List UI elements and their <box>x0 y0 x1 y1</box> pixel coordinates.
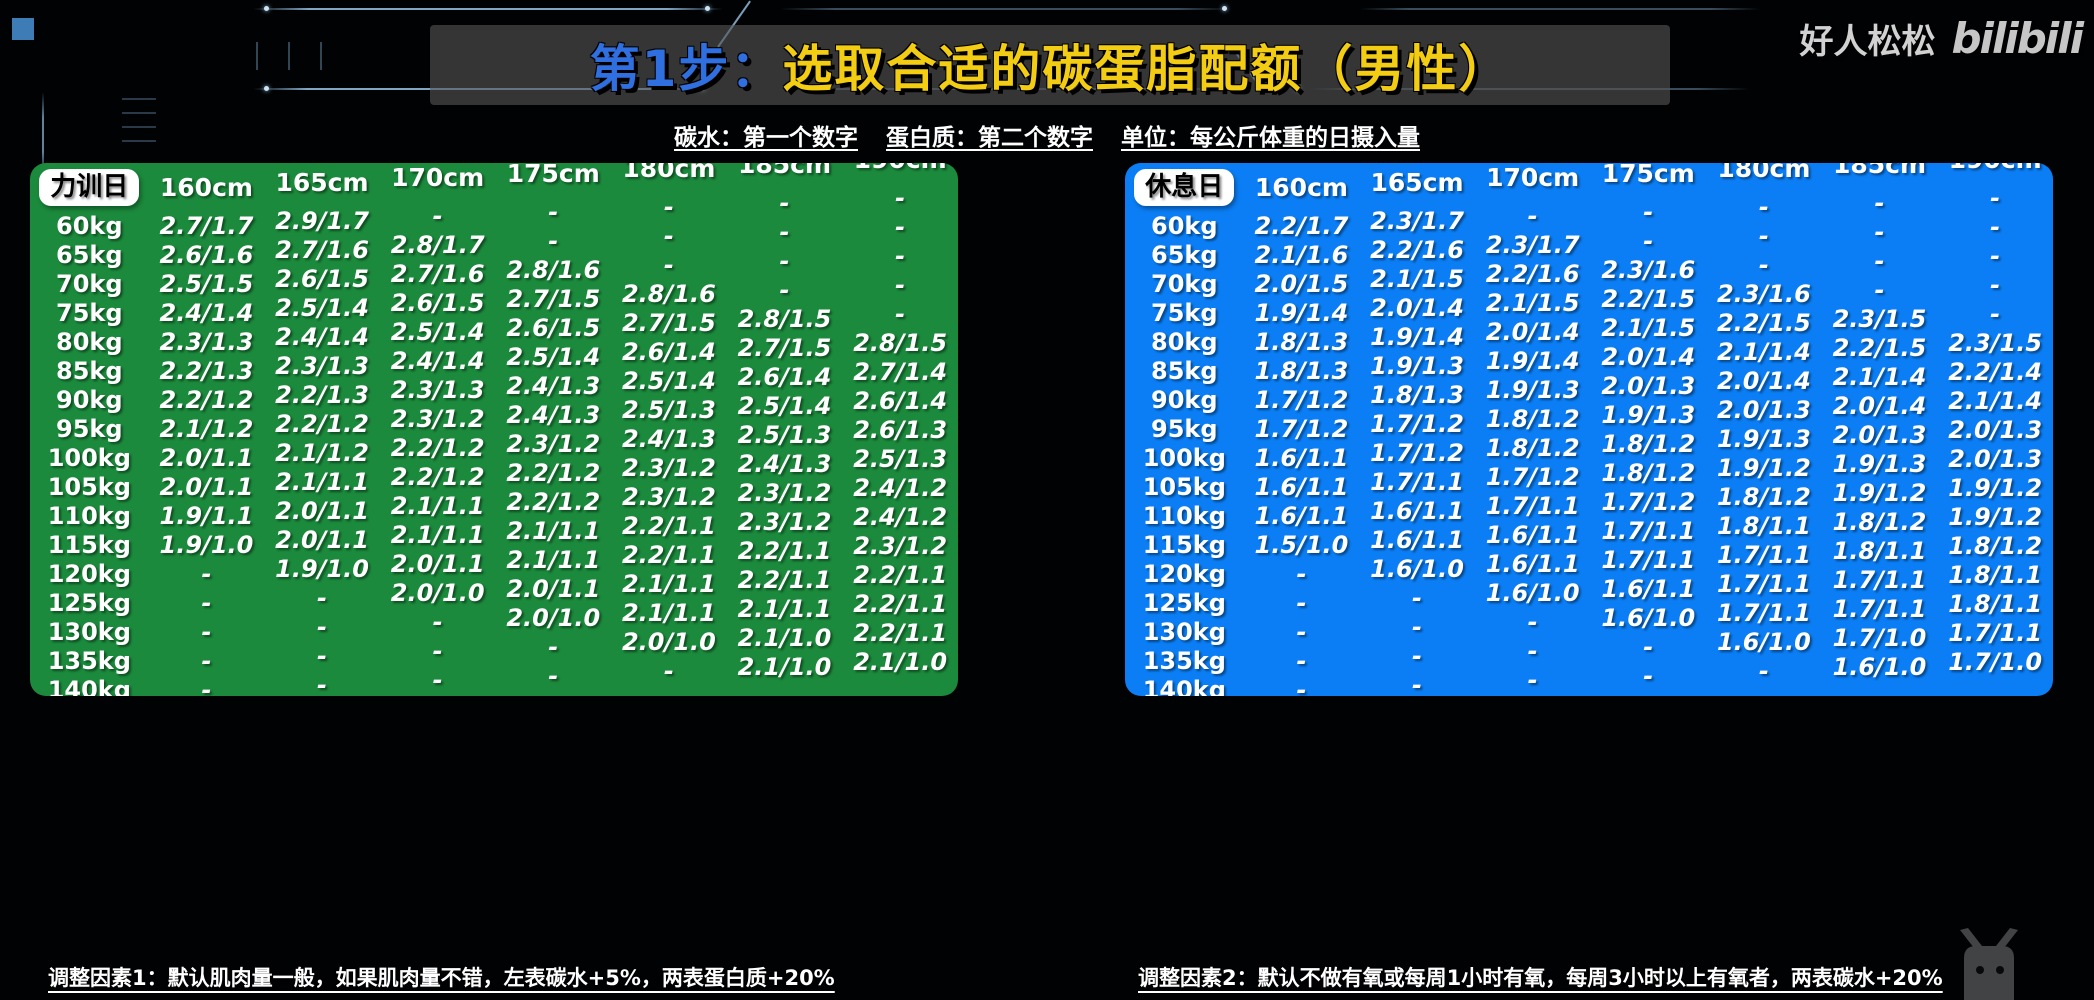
row-header-weight: 90kg <box>1125 385 1244 414</box>
cell-macro-value: - <box>149 617 265 646</box>
cell-macro-value: 2.4/1.3 <box>611 424 727 453</box>
cell-macro-value: 2.1/1.4 <box>1822 362 1938 391</box>
cell-macro-value: 1.8/1.2 <box>1590 429 1706 458</box>
cell-macro-value: - <box>1937 299 2053 328</box>
cell-macro-value: - <box>149 588 265 617</box>
cell-macro-value: 2.7/1.5 <box>727 333 843 362</box>
cell-macro-value: 2.0/1.4 <box>1590 342 1706 371</box>
cell-macro-value: 2.4/1.2 <box>842 473 958 502</box>
cell-macro-value: - <box>1244 559 1360 588</box>
cell-macro-value: 2.4/1.4 <box>380 346 496 375</box>
cell-macro-value: 1.9/1.4 <box>1359 322 1475 351</box>
cell-macro-value: 2.0/1.0 <box>380 578 496 607</box>
cell-macro-value: 2.1/1.1 <box>380 520 496 549</box>
cell-macro-value: - <box>1590 226 1706 255</box>
cell-macro-value: - <box>611 192 727 221</box>
cell-macro-value: 1.9/1.2 <box>1937 502 2053 531</box>
cell-macro-value: 1.9/1.4 <box>1244 298 1360 327</box>
cell-macro-value: 2.6/1.6 <box>149 240 265 269</box>
cell-macro-value: - <box>380 665 496 694</box>
cell-macro-value: - <box>727 217 843 246</box>
cell-macro-value: 2.5/1.4 <box>495 342 611 371</box>
cell-macro-value: - <box>1590 661 1706 690</box>
col-header-190: 190cm <box>1937 163 2053 183</box>
channel-name: 好人松松 <box>1799 14 1935 63</box>
cell-macro-value: 2.2/1.6 <box>1475 259 1591 288</box>
row-header-weight: 140kg <box>1125 675 1244 696</box>
cell-macro-value: 2.1/1.2 <box>149 414 265 443</box>
cell-macro-value: 1.8/1.1 <box>1937 560 2053 589</box>
subtitle-legend: 碳水：第一个数字蛋白质：第二个数字单位：每公斤体重的日摄入量 <box>0 118 2094 152</box>
cell-macro-value: 2.7/1.6 <box>264 235 380 264</box>
cell-macro-value: - <box>380 201 496 230</box>
cell-macro-value: 2.3/1.3 <box>149 327 265 356</box>
cell-macro-value: 2.3/1.2 <box>611 482 727 511</box>
row-header-weight: 125kg <box>1125 588 1244 617</box>
cell-macro-value: 1.8/1.2 <box>1937 531 2053 560</box>
cell-macro-value: 2.1/1.6 <box>1244 240 1360 269</box>
cell-macro-value: 1.5/1.0 <box>1244 530 1360 559</box>
cell-macro-value: 2.0/1.1 <box>149 472 265 501</box>
cell-macro-value: - <box>842 241 958 270</box>
cell-macro-value: 1.8/1.3 <box>1244 356 1360 385</box>
training-day-table-card: 力训日 160cm 165cm 170cm 175cm 180cm 185cm … <box>30 163 958 696</box>
slide-canvas: 第1步：选取合适的碳蛋脂配额（男性） 碳水：第一个数字蛋白质：第二个数字单位：每… <box>0 0 2094 1000</box>
row-header-weight: 80kg <box>30 327 149 356</box>
cell-macro-value: 2.6/1.3 <box>842 415 958 444</box>
rest-table-body: 60kg2.2/1.72.3/1.7-----65kg2.1/1.62.2/1.… <box>1125 211 2053 696</box>
cell-macro-value: 2.0/1.5 <box>1244 269 1360 298</box>
cell-macro-value: 1.7/1.0 <box>1822 623 1938 652</box>
cell-macro-value: - <box>1937 241 2053 270</box>
rest-day-badge-cell: 休息日 <box>1125 163 1244 211</box>
cell-macro-value: 2.5/1.3 <box>727 420 843 449</box>
cell-macro-value: 2.0/1.3 <box>1706 395 1822 424</box>
cell-macro-value: - <box>264 670 380 696</box>
cell-macro-value: 2.3/1.2 <box>842 531 958 560</box>
cell-macro-value: 2.1/1.5 <box>1475 288 1591 317</box>
title-main-text: 选取合适的碳蛋脂配额（男性） <box>782 29 1510 101</box>
cell-macro-value: - <box>1706 656 1822 685</box>
cell-macro-value: 2.1/1.1 <box>611 598 727 627</box>
cell-macro-value: 2.1/1.2 <box>264 438 380 467</box>
cell-macro-value: - <box>1475 665 1591 694</box>
cell-macro-value: - <box>842 212 958 241</box>
cell-macro-value: 1.9/1.3 <box>1590 400 1706 429</box>
cell-macro-value: - <box>1822 217 1938 246</box>
cell-macro-value: 1.9/1.3 <box>1475 375 1591 404</box>
training-table-body: 60kg2.7/1.72.9/1.7-----65kg2.6/1.62.7/1.… <box>30 211 958 696</box>
cell-macro-value: 1.9/1.3 <box>1359 351 1475 380</box>
cell-macro-value: 2.6/1.4 <box>611 337 727 366</box>
row-header-weight: 100kg <box>30 443 149 472</box>
table-row: 140kg-----2.1/1.02.1/1.0 <box>30 675 958 696</box>
deco-tick-1 <box>256 42 258 70</box>
cell-macro-value: 1.8/1.1 <box>1937 589 2053 618</box>
cell-macro-value: 2.3/1.2 <box>611 453 727 482</box>
row-header-weight: 135kg <box>30 646 149 675</box>
cell-macro-value: 2.3/1.7 <box>1359 206 1475 235</box>
cell-macro-value: 2.2/1.2 <box>495 458 611 487</box>
cell-macro-value: 1.9/1.1 <box>149 501 265 530</box>
cell-macro-value: 2.6/1.5 <box>264 264 380 293</box>
row-header-weight: 135kg <box>1125 646 1244 675</box>
cell-macro-value: 2.0/1.1 <box>380 549 496 578</box>
cell-macro-value: 2.8/1.6 <box>611 279 727 308</box>
cell-macro-value: - <box>1822 246 1938 275</box>
cell-macro-value: 1.7/1.1 <box>1359 467 1475 496</box>
cell-macro-value: 1.7/1.1 <box>1706 569 1822 598</box>
deco-dash-2 <box>122 112 156 114</box>
cell-macro-value: 2.2/1.7 <box>1244 211 1360 240</box>
cell-macro-value: 2.6/1.5 <box>380 288 496 317</box>
cell-macro-value: - <box>727 246 843 275</box>
cell-macro-value: - <box>1937 270 2053 299</box>
col-header-190: 190cm <box>842 163 958 183</box>
cell-macro-value: 1.6/1.0 <box>1706 627 1822 656</box>
cell-macro-value: 2.2/1.1 <box>842 560 958 589</box>
cell-macro-value: 1.6/1.1 <box>1475 549 1591 578</box>
cell-macro-value: - <box>1822 188 1938 217</box>
row-header-weight: 130kg <box>30 617 149 646</box>
cell-macro-value: 2.1/1.4 <box>1706 337 1822 366</box>
cell-macro-value: 2.0/1.3 <box>1590 371 1706 400</box>
cell-macro-value: - <box>611 221 727 250</box>
col-header-185: 185cm <box>727 163 843 188</box>
cell-macro-value: - <box>1359 641 1475 670</box>
cell-macro-value: 2.2/1.5 <box>1822 333 1938 362</box>
cell-macro-value: 1.8/1.2 <box>1822 507 1938 536</box>
cell-macro-value: 2.7/1.5 <box>611 308 727 337</box>
bilibili-logo: bilibili <box>1951 14 2082 63</box>
cell-macro-value: 2.7/1.4 <box>842 357 958 386</box>
cell-macro-value: 2.8/1.7 <box>380 230 496 259</box>
cell-macro-value: 2.2/1.2 <box>495 487 611 516</box>
cell-macro-value: 1.9/1.2 <box>1706 453 1822 482</box>
cell-macro-value: 2.3/1.7 <box>1475 230 1591 259</box>
cell-macro-value: 2.0/1.3 <box>1937 444 2053 473</box>
cell-macro-value: 2.2/1.2 <box>149 385 265 414</box>
row-header-weight: 105kg <box>1125 472 1244 501</box>
cell-macro-value: - <box>727 188 843 217</box>
cell-macro-value: - <box>264 612 380 641</box>
cell-macro-value: 2.6/1.4 <box>727 362 843 391</box>
cell-macro-value: 1.7/1.2 <box>1244 385 1360 414</box>
cell-macro-value: 2.2/1.5 <box>1590 284 1706 313</box>
cell-macro-value: 2.0/1.0 <box>611 627 727 656</box>
cell-macro-value: 2.1/1.0 <box>727 652 843 681</box>
cell-macro-value: - <box>380 607 496 636</box>
cell-macro-value: - <box>842 270 958 299</box>
cell-macro-value: - <box>495 632 611 661</box>
cell-macro-value: 2.2/1.1 <box>842 618 958 647</box>
footnote-adjustment-2: 调整因素2：默认不做有氧或每周1小时有氧，每周3小时以上有氧者，两表碳水+20% <box>1138 962 1943 992</box>
cell-macro-value: - <box>611 250 727 279</box>
cell-macro-value: 2.4/1.3 <box>495 400 611 429</box>
cell-macro-value: 2.2/1.1 <box>611 511 727 540</box>
row-header-weight: 60kg <box>30 211 149 240</box>
cell-macro-value: 1.8/1.1 <box>1706 511 1822 540</box>
cell-macro-value: 1.6/1.1 <box>1244 443 1360 472</box>
cell-macro-value: 1.8/1.3 <box>1244 327 1360 356</box>
cell-macro-value: 1.7/1.2 <box>1244 414 1360 443</box>
cell-macro-value: 2.4/1.2 <box>842 502 958 531</box>
training-day-table: 力训日 160cm 165cm 170cm 175cm 180cm 185cm … <box>30 163 958 696</box>
cell-macro-value: 2.3/1.6 <box>1590 255 1706 284</box>
cell-macro-value: 1.9/1.0 <box>149 530 265 559</box>
cell-macro-value: 2.1/1.5 <box>1359 264 1475 293</box>
deco-square <box>12 18 34 40</box>
cell-macro-value: 2.5/1.4 <box>264 293 380 322</box>
deco-tick-2 <box>288 42 290 70</box>
cell-macro-value: 2.3/1.3 <box>264 351 380 380</box>
cell-macro-value: 1.6/1.0 <box>1590 603 1706 632</box>
row-header-weight: 95kg <box>1125 414 1244 443</box>
cell-macro-value: - <box>380 636 496 665</box>
row-header-weight: 130kg <box>1125 617 1244 646</box>
cell-macro-value: 2.1/1.1 <box>495 545 611 574</box>
row-header-weight: 75kg <box>30 298 149 327</box>
cell-macro-value: - <box>842 183 958 212</box>
row-header-weight: 85kg <box>1125 356 1244 385</box>
cell-macro-value: 2.5/1.5 <box>149 269 265 298</box>
cell-macro-value: - <box>149 675 265 696</box>
row-header-weight: 100kg <box>1125 443 1244 472</box>
row-header-weight: 85kg <box>30 356 149 385</box>
deco-line-top-6 <box>1360 8 1760 10</box>
cell-macro-value: 2.2/1.1 <box>727 536 843 565</box>
cell-macro-value: 2.2/1.6 <box>1359 235 1475 264</box>
cell-macro-value: 2.4/1.3 <box>495 371 611 400</box>
cell-macro-value: 2.3/1.6 <box>1706 279 1822 308</box>
cell-macro-value: 2.6/1.5 <box>495 313 611 342</box>
cell-macro-value: 2.7/1.7 <box>149 211 265 240</box>
cell-macro-value: - <box>1822 275 1938 304</box>
cell-macro-value: 1.8/1.2 <box>1475 404 1591 433</box>
row-header-weight: 115kg <box>1125 530 1244 559</box>
cell-macro-value: - <box>1706 192 1822 221</box>
cell-macro-value: - <box>1937 212 2053 241</box>
cell-macro-value: 2.5/1.3 <box>611 395 727 424</box>
cell-macro-value: 2.3/1.2 <box>727 507 843 536</box>
cell-macro-value: 2.3/1.2 <box>495 429 611 458</box>
cell-macro-value: - <box>1244 675 1360 696</box>
row-header-weight: 65kg <box>1125 240 1244 269</box>
cell-macro-value: - <box>1937 183 2053 212</box>
col-header-165: 165cm <box>1359 163 1475 206</box>
training-day-badge-cell: 力训日 <box>30 163 149 211</box>
rest-day-table-card: 休息日 160cm 165cm 170cm 175cm 180cm 185cm … <box>1125 163 2053 696</box>
col-header-165: 165cm <box>264 163 380 206</box>
row-header-weight: 105kg <box>30 472 149 501</box>
deco-dot-1 <box>264 6 269 11</box>
cell-macro-value: 2.1/1.1 <box>264 467 380 496</box>
cell-macro-value: 1.8/1.2 <box>1706 482 1822 511</box>
cell-macro-value: 2.3/1.5 <box>1937 328 2053 357</box>
cell-macro-value: 2.3/1.5 <box>1822 304 1938 333</box>
cell-macro-value: - <box>1359 583 1475 612</box>
cell-macro-value: 2.3/1.2 <box>380 404 496 433</box>
legend-unit: 单位：每公斤体重的日摄入量 <box>1121 125 1420 151</box>
row-header-weight: 110kg <box>30 501 149 530</box>
cell-macro-value: - <box>611 656 727 685</box>
cell-macro-value: 2.2/1.1 <box>727 565 843 594</box>
cell-macro-value: 2.1/1.1 <box>495 516 611 545</box>
col-header-175: 175cm <box>1590 163 1706 197</box>
deco-tick-3 <box>320 42 322 70</box>
cell-macro-value: 1.6/1.1 <box>1359 496 1475 525</box>
deco-dot-2 <box>705 6 710 11</box>
cell-macro-value: 2.0/1.1 <box>264 525 380 554</box>
cell-macro-value: - <box>1706 250 1822 279</box>
cell-macro-value: 2.1/1.5 <box>1590 313 1706 342</box>
cell-macro-value: - <box>1244 588 1360 617</box>
col-header-170: 170cm <box>1475 163 1591 201</box>
legend-carbs: 碳水：第一个数字 <box>674 125 858 151</box>
deco-dot-5 <box>1222 6 1227 11</box>
cell-macro-value: - <box>149 646 265 675</box>
cell-macro-value: 1.7/1.2 <box>1475 462 1591 491</box>
cell-macro-value: 1.6/1.1 <box>1244 472 1360 501</box>
cell-macro-value: 1.7/1.1 <box>1590 545 1706 574</box>
row-header-weight: 65kg <box>30 240 149 269</box>
cell-macro-value: 2.2/1.1 <box>611 540 727 569</box>
col-header-185: 185cm <box>1822 163 1938 188</box>
cell-macro-value: 1.7/1.1 <box>1937 618 2053 647</box>
cell-macro-value: - <box>264 641 380 670</box>
cell-macro-value: 1.6/1.0 <box>1359 554 1475 583</box>
cell-macro-value: - <box>1359 670 1475 696</box>
cell-macro-value: 1.7/1.0 <box>1937 647 2053 676</box>
row-header-weight: 95kg <box>30 414 149 443</box>
cell-macro-value: 1.7/1.1 <box>1822 594 1938 623</box>
cell-macro-value: 2.4/1.3 <box>727 449 843 478</box>
col-header-180: 180cm <box>1706 163 1822 192</box>
cell-macro-value: 2.1/1.4 <box>1937 386 2053 415</box>
cell-macro-value: - <box>495 226 611 255</box>
row-header-weight: 60kg <box>1125 211 1244 240</box>
cell-macro-value: 2.1/1.1 <box>727 594 843 623</box>
cell-macro-value: 2.0/1.0 <box>495 603 611 632</box>
row-header-weight: 115kg <box>30 530 149 559</box>
cell-macro-value: 1.9/1.4 <box>1475 346 1591 375</box>
cell-macro-value: 2.0/1.1 <box>495 574 611 603</box>
cell-macro-value: 2.2/1.2 <box>380 462 496 491</box>
bunny-mascot-icon <box>1944 928 2034 1000</box>
cell-macro-value: - <box>264 583 380 612</box>
cell-macro-value: 2.5/1.4 <box>380 317 496 346</box>
cell-macro-value: 2.1/1.1 <box>380 491 496 520</box>
cell-macro-value: 1.6/1.0 <box>1822 652 1938 681</box>
cell-macro-value: 2.4/1.4 <box>264 322 380 351</box>
rest-day-table: 休息日 160cm 165cm 170cm 175cm 180cm 185cm … <box>1125 163 2053 696</box>
cell-macro-value: 2.1/1.1 <box>611 569 727 598</box>
cell-macro-value: 2.1/1.0 <box>727 623 843 652</box>
row-header-weight: 90kg <box>30 385 149 414</box>
cell-macro-value: - <box>1590 197 1706 226</box>
row-header-weight: 110kg <box>1125 501 1244 530</box>
row-header-weight: 75kg <box>1125 298 1244 327</box>
cell-macro-value: 1.9/1.2 <box>1822 478 1938 507</box>
cell-macro-value: 1.7/1.2 <box>1590 487 1706 516</box>
cell-macro-value: 2.0/1.3 <box>1937 415 2053 444</box>
cell-macro-value: 2.0/1.1 <box>264 496 380 525</box>
legend-protein: 蛋白质：第二个数字 <box>886 125 1093 151</box>
row-header-weight: 120kg <box>1125 559 1244 588</box>
col-header-180: 180cm <box>611 163 727 192</box>
cell-macro-value: 1.6/1.1 <box>1244 501 1360 530</box>
cell-macro-value: 1.7/1.1 <box>1822 565 1938 594</box>
cell-macro-value: 1.6/1.1 <box>1359 525 1475 554</box>
cell-macro-value: 1.6/1.1 <box>1590 574 1706 603</box>
cell-macro-value: - <box>1475 636 1591 665</box>
cell-macro-value: 2.5/1.4 <box>611 366 727 395</box>
col-header-175: 175cm <box>495 163 611 197</box>
cell-macro-value: - <box>495 197 611 226</box>
row-header-weight: 140kg <box>30 675 149 696</box>
cell-macro-value: 1.7/1.2 <box>1359 438 1475 467</box>
deco-dash-1 <box>122 98 156 100</box>
cell-macro-value: 2.0/1.1 <box>149 443 265 472</box>
cell-macro-value: 2.7/1.5 <box>495 284 611 313</box>
rest-day-badge: 休息日 <box>1134 169 1234 206</box>
cell-macro-value: 2.4/1.4 <box>149 298 265 327</box>
cell-macro-value: 2.0/1.3 <box>1822 420 1938 449</box>
footnote-adjustment-1: 调整因素1：默认肌肉量一般，如果肌肉量不错，左表碳水+5%，两表蛋白质+20% <box>48 962 835 992</box>
deco-line-top-1 <box>253 8 723 10</box>
deco-dot-3 <box>264 86 269 91</box>
cell-macro-value: 2.2/1.2 <box>264 409 380 438</box>
table-row: 140kg-----1.6/1.01.7/1.0 <box>1125 675 2053 696</box>
cell-macro-value: 2.0/1.4 <box>1822 391 1938 420</box>
cell-macro-value: 2.8/1.5 <box>727 304 843 333</box>
cell-macro-value: 2.6/1.4 <box>842 386 958 415</box>
cell-macro-value: 1.9/1.3 <box>1822 449 1938 478</box>
row-header-weight: 80kg <box>1125 327 1244 356</box>
cell-macro-value: - <box>1475 607 1591 636</box>
cell-macro-value: 2.1/1.0 <box>842 647 958 676</box>
cell-macro-value: 1.8/1.2 <box>1475 433 1591 462</box>
cell-macro-value: 2.5/1.3 <box>842 444 958 473</box>
row-header-weight: 70kg <box>30 269 149 298</box>
col-header-170: 170cm <box>380 163 496 201</box>
cell-macro-value: 1.6/1.0 <box>1475 578 1591 607</box>
cell-macro-value: 1.6/1.1 <box>1475 520 1591 549</box>
channel-watermark: 好人松松 bilibili <box>1799 14 2082 63</box>
cell-macro-value: 2.5/1.4 <box>727 391 843 420</box>
cell-macro-value: 1.9/1.0 <box>264 554 380 583</box>
cell-macro-value: 2.8/1.5 <box>842 328 958 357</box>
cell-macro-value: 1.9/1.2 <box>1937 473 2053 502</box>
cell-macro-value: - <box>1244 646 1360 675</box>
cell-macro-value: - <box>1359 612 1475 641</box>
cell-macro-value: 2.2/1.1 <box>842 589 958 618</box>
cell-macro-value: 2.0/1.4 <box>1706 366 1822 395</box>
cell-macro-value: - <box>842 299 958 328</box>
cell-macro-value: 2.7/1.6 <box>380 259 496 288</box>
cell-macro-value: 2.0/1.4 <box>1475 317 1591 346</box>
training-day-badge: 力训日 <box>39 169 139 206</box>
row-header-weight: 120kg <box>30 559 149 588</box>
cell-macro-value: 2.0/1.4 <box>1359 293 1475 322</box>
cell-macro-value: 1.7/1.2 <box>1359 409 1475 438</box>
deco-line-top-3 <box>780 8 1232 10</box>
cell-macro-value: 2.2/1.5 <box>1706 308 1822 337</box>
col-header-160: 160cm <box>1244 163 1360 211</box>
cell-macro-value: 1.7/1.1 <box>1590 516 1706 545</box>
cell-macro-value: 2.2/1.4 <box>1937 357 2053 386</box>
cell-macro-value: 2.3/1.3 <box>380 375 496 404</box>
